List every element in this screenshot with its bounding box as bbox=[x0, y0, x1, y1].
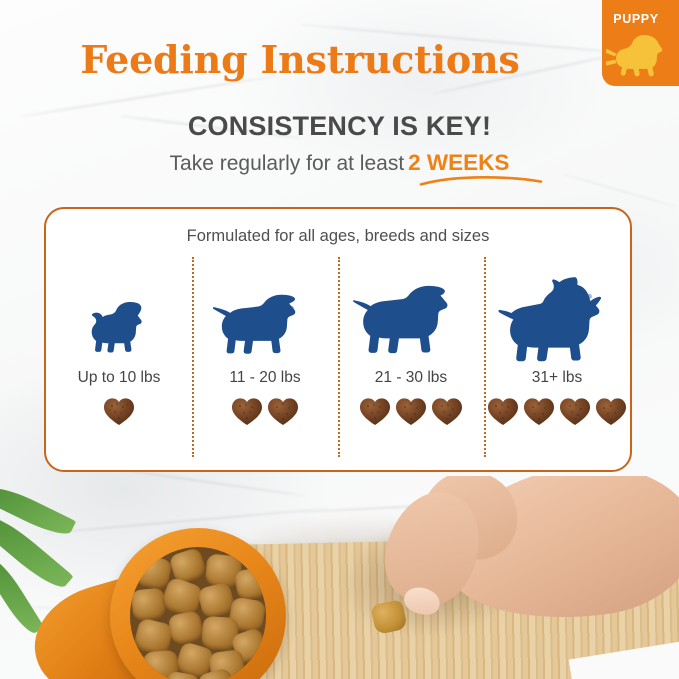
feeding-column-2: 11 - 20 lbs bbox=[192, 257, 338, 469]
heart-treat-icon bbox=[231, 396, 263, 426]
heart-treat-icon bbox=[523, 396, 555, 426]
treat-row-4 bbox=[487, 396, 627, 426]
page-title: Feeding Instructions bbox=[0, 37, 600, 82]
weight-label-3: 21 - 30 lbs bbox=[375, 369, 447, 387]
bowl-kibble-fill bbox=[130, 547, 266, 679]
underline-swoosh-icon bbox=[420, 176, 542, 186]
hand-holding-kibble bbox=[360, 476, 679, 672]
kibble-piece bbox=[167, 610, 204, 646]
kibble-piece bbox=[130, 587, 166, 621]
feeding-column-1: Up to 10 lbs bbox=[46, 257, 192, 469]
heart-treat-icon bbox=[559, 396, 591, 426]
weight-label-2: 11 - 20 lbs bbox=[229, 369, 300, 387]
consistency-heading: CONSISTENCY IS KEY! bbox=[0, 111, 679, 142]
dog-silhouette-wrap bbox=[353, 257, 469, 362]
feeding-column-4: 31+ lbs bbox=[484, 257, 630, 469]
medium-dog-silhouette-icon bbox=[353, 282, 469, 362]
take-regularly-line: Take regularly for at least2 WEEKS bbox=[0, 150, 679, 176]
product-photo bbox=[0, 476, 679, 679]
treat-row-2 bbox=[231, 396, 299, 426]
feeding-column-3: 21 - 30 lbs bbox=[338, 257, 484, 469]
large-dog-silhouette-icon bbox=[498, 274, 616, 362]
heart-treat-icon bbox=[395, 396, 427, 426]
heart-treat-icon bbox=[103, 396, 135, 426]
treat-row-1 bbox=[103, 396, 135, 426]
marble-vein bbox=[562, 173, 678, 207]
feeding-columns: Up to 10 lbs bbox=[46, 257, 630, 469]
take-regularly-prefix: Take regularly for at least bbox=[170, 152, 405, 175]
dog-silhouette-wrap bbox=[80, 257, 158, 362]
toy-puppy-silhouette-icon bbox=[80, 296, 158, 362]
two-weeks-highlight: 2 WEEKS bbox=[408, 150, 509, 175]
heart-treat-icon bbox=[267, 396, 299, 426]
weight-label-1: Up to 10 lbs bbox=[78, 369, 161, 387]
feeding-chart-card: Formulated for all ages, breeds and size… bbox=[44, 207, 632, 472]
puppy-dog-icon bbox=[606, 28, 672, 80]
weight-label-4: 31+ lbs bbox=[532, 369, 582, 387]
heart-treat-icon bbox=[595, 396, 627, 426]
small-dog-silhouette-icon bbox=[213, 290, 317, 362]
heart-treat-icon bbox=[431, 396, 463, 426]
heart-treat-icon bbox=[359, 396, 391, 426]
heart-treat-icon bbox=[487, 396, 519, 426]
kibble-piece bbox=[234, 567, 266, 601]
puppy-badge-label: PUPPY bbox=[602, 12, 670, 26]
dog-silhouette-wrap bbox=[213, 257, 317, 362]
card-subtitle: Formulated for all ages, breeds and size… bbox=[46, 227, 630, 246]
puppy-badge: PUPPY bbox=[602, 0, 679, 86]
treat-row-3 bbox=[359, 396, 463, 426]
dog-silhouette-wrap bbox=[498, 257, 616, 362]
